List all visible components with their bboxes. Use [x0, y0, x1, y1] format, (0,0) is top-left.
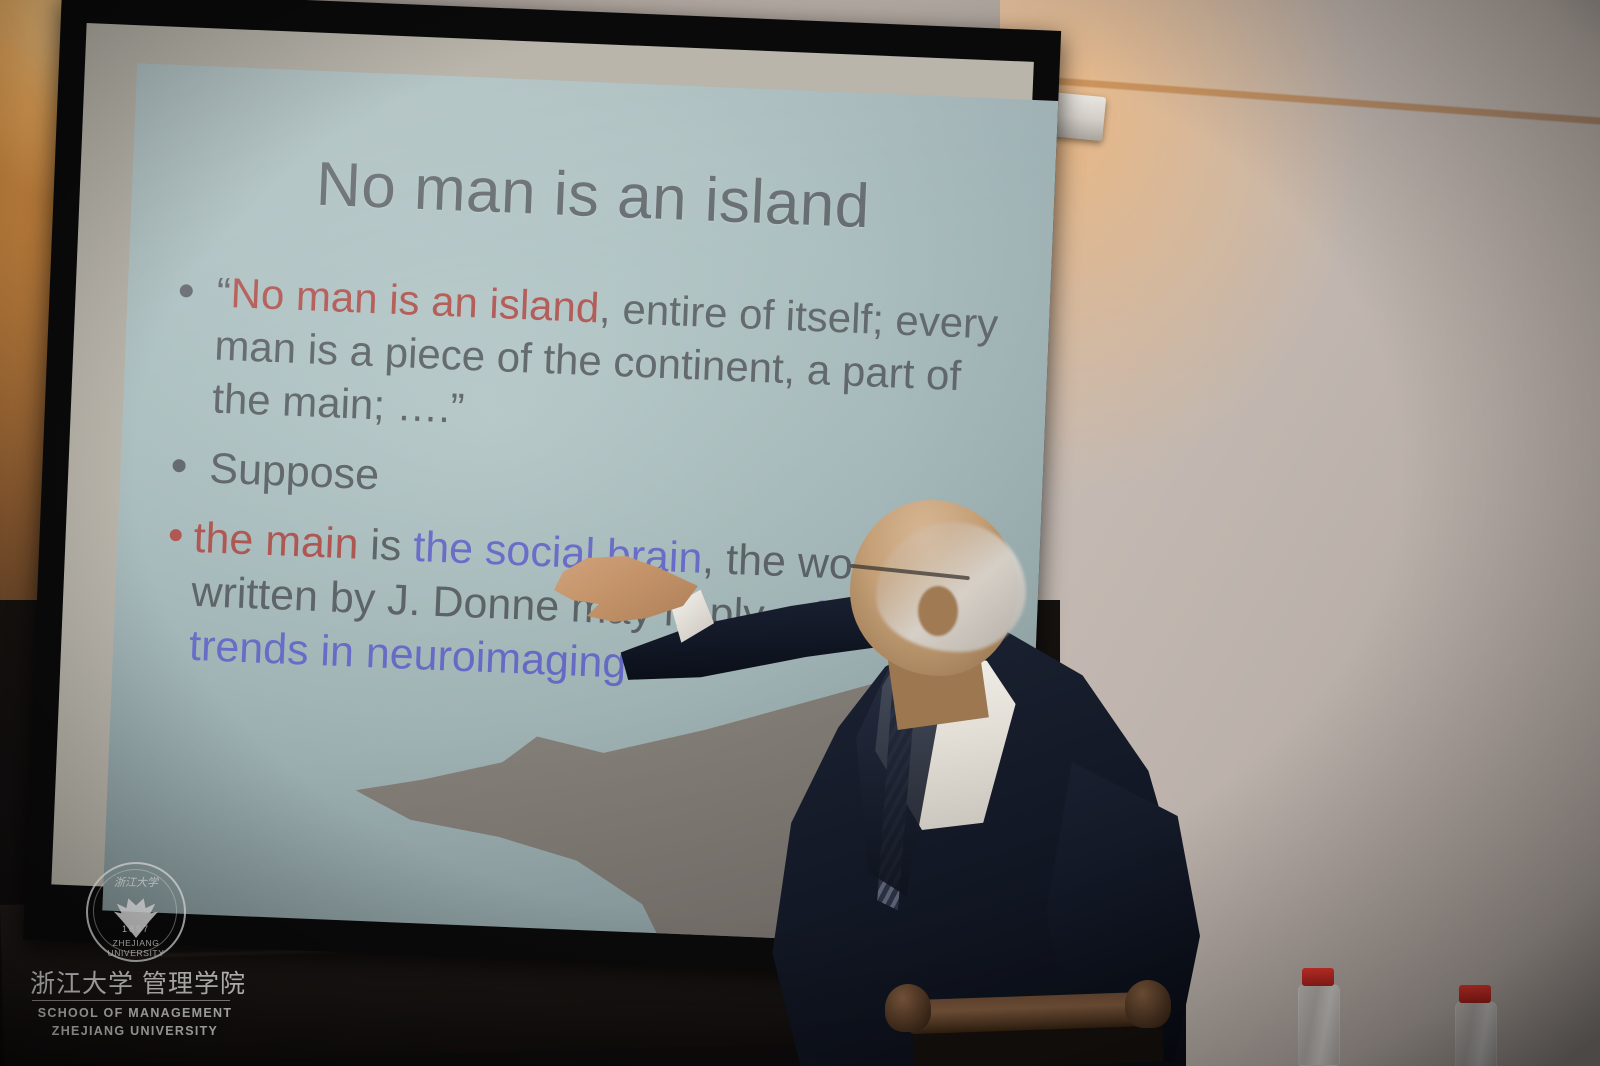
slide-bullet-item: “No man is an island, entire of itself; … — [174, 265, 1010, 458]
zhejiang-university-watermark: 浙江大学 1897 ZHEJIANG UNIVERSITY 浙江大学 管理学院 … — [30, 862, 260, 1048]
slide-bullet-text: Suppose — [208, 441, 380, 502]
lecture-photo-scene: ThreeStars No man is an island “No man i… — [0, 0, 1600, 1066]
chair-knob-right — [1125, 980, 1171, 1028]
water-bottle — [1295, 968, 1341, 1064]
university-seal-icon: 浙江大学 1897 ZHEJIANG UNIVERSITY — [86, 862, 186, 962]
bottle-body — [1455, 1001, 1497, 1066]
slide-title: No man is an island — [131, 141, 1055, 250]
bottle-cap — [1302, 968, 1334, 986]
bullet-2-segment-0: Suppose — [209, 444, 381, 499]
bullet-dot-icon — [170, 529, 182, 541]
seal-arc-bottom-text: ZHEJIANG UNIVERSITY — [88, 938, 184, 958]
speaker-ear — [918, 586, 958, 636]
water-bottle — [1452, 985, 1498, 1066]
watermark-english-line-1: SCHOOL OF MANAGEMENT — [30, 1006, 240, 1020]
seal-arc-top-text: 浙江大学 — [88, 874, 184, 890]
seal-founding-year: 1897 — [88, 924, 184, 934]
watermark-divider — [32, 1000, 230, 1001]
bullet-3-segment-1: is — [357, 521, 414, 571]
wooden-chair — [885, 978, 1175, 1066]
bottle-body — [1298, 984, 1340, 1066]
bottle-cap — [1459, 985, 1491, 1003]
watermark-chinese-name: 浙江大学 管理学院 — [30, 964, 260, 1000]
bullet-dot-icon — [180, 284, 194, 298]
bullet-3-segment-0: the main — [193, 514, 360, 569]
bullet-1-segment-1: No man is an island — [230, 269, 600, 331]
chair-knob-left — [885, 984, 931, 1032]
bullet-dot-icon — [172, 459, 186, 473]
slide-bullet-text: “No man is an island, entire of itself; … — [211, 267, 1010, 458]
watermark-english-line-2: ZHEJIANG UNIVERSITY — [30, 1024, 240, 1038]
